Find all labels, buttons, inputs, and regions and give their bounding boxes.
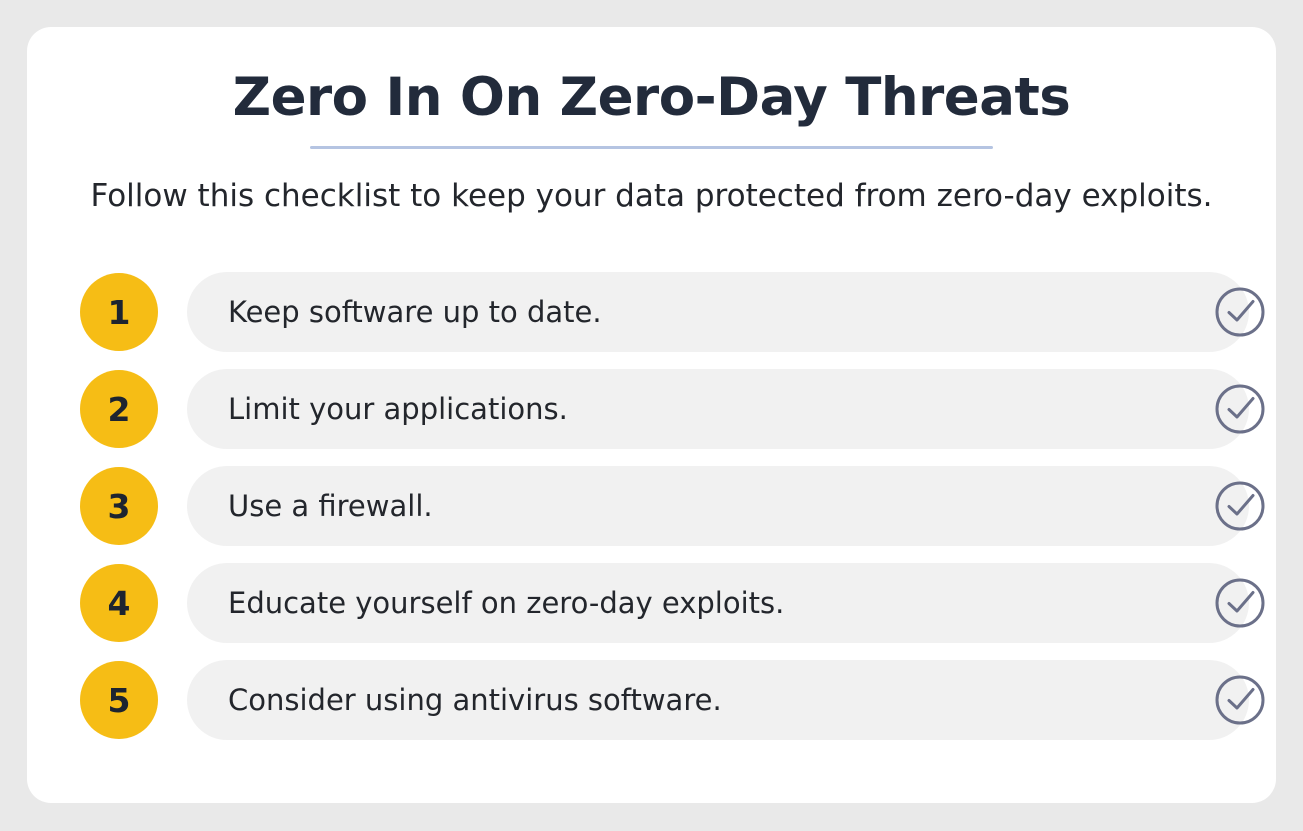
page-root: Zero In On Zero-Day Threats Follow this … bbox=[0, 0, 1303, 831]
list-item-number-badge: 2 bbox=[80, 370, 158, 448]
list-item[interactable]: 5 Consider using antivirus software. bbox=[80, 660, 1276, 740]
list-item-label: Limit your applications. bbox=[228, 369, 568, 449]
check-circle-icon[interactable] bbox=[1214, 674, 1266, 726]
list-item-number: 4 bbox=[108, 587, 131, 620]
list-item-number-badge: 3 bbox=[80, 467, 158, 545]
check-circle-icon[interactable] bbox=[1214, 286, 1266, 338]
list-item-number: 2 bbox=[108, 393, 131, 426]
list-item[interactable]: 2 Limit your applications. bbox=[80, 369, 1276, 449]
list-item[interactable]: 4 Educate yourself on zero-day exploits. bbox=[80, 563, 1276, 643]
list-item-number-badge: 5 bbox=[80, 661, 158, 739]
list-item-label: Use a firewall. bbox=[228, 466, 433, 546]
page-title: Zero In On Zero-Day Threats bbox=[27, 69, 1276, 127]
list-item-label: Educate yourself on zero-day exploits. bbox=[228, 563, 784, 643]
list-item-label: Keep software up to date. bbox=[228, 272, 602, 352]
checklist-card: Zero In On Zero-Day Threats Follow this … bbox=[27, 27, 1276, 803]
list-item-number: 5 bbox=[108, 684, 131, 717]
list-item[interactable]: 3 Use a firewall. bbox=[80, 466, 1276, 546]
check-circle-icon[interactable] bbox=[1214, 480, 1266, 532]
check-circle-icon[interactable] bbox=[1214, 577, 1266, 629]
list-item-label: Consider using antivirus software. bbox=[228, 660, 722, 740]
list-item[interactable]: 1 Keep software up to date. bbox=[80, 272, 1276, 352]
list-item-number: 3 bbox=[108, 490, 131, 523]
list-item-number: 1 bbox=[108, 296, 131, 329]
list-item-number-badge: 1 bbox=[80, 273, 158, 351]
title-underline bbox=[310, 146, 993, 149]
list-item-number-badge: 4 bbox=[80, 564, 158, 642]
checklist: 1 Keep software up to date. 2 Limit your… bbox=[80, 272, 1276, 740]
check-circle-icon[interactable] bbox=[1214, 383, 1266, 435]
page-subtitle: Follow this checklist to keep your data … bbox=[27, 175, 1276, 217]
